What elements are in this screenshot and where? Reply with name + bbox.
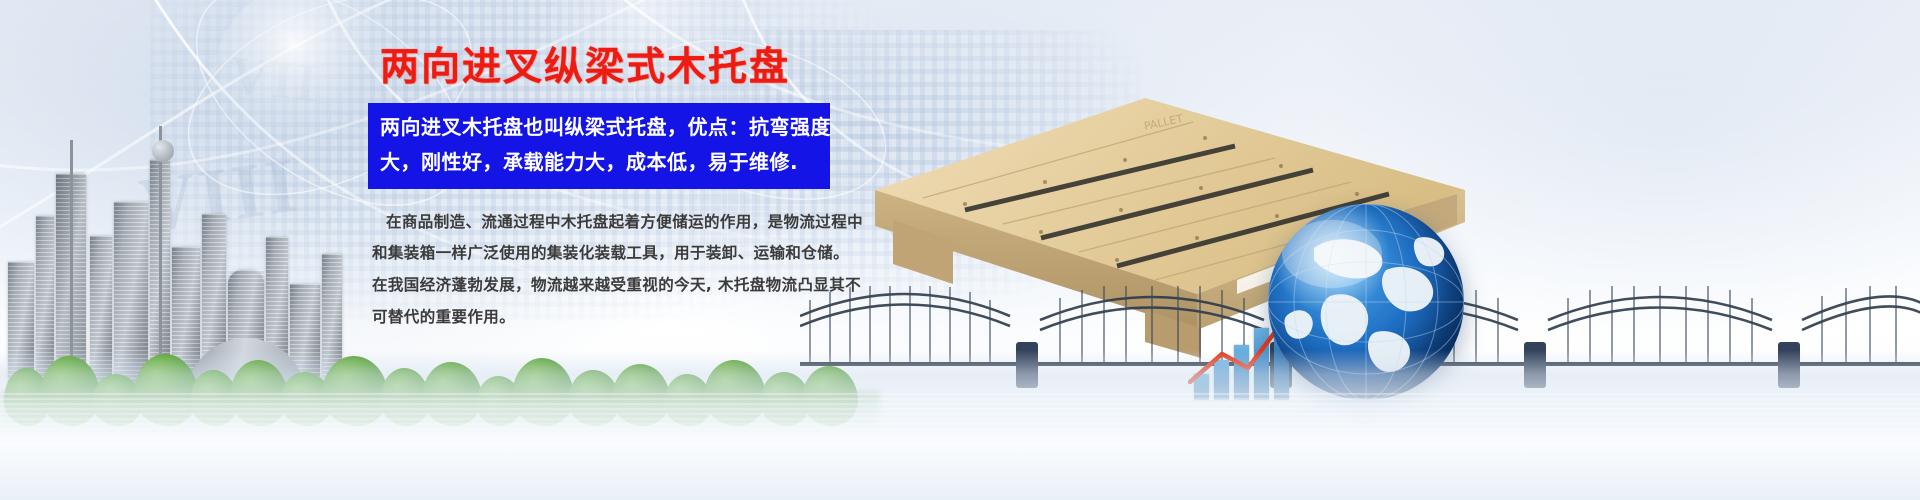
body-line-3: 在我国经济蓬勃发展，物流越来越受重视的今天, 木托盘物流凸显其不: [372, 270, 872, 302]
water-streaks: [0, 390, 1920, 464]
highlight-callout-box: 两向进叉木托盘也叫纵梁式托盘，优点：抗弯强度 大，刚性好，承载能力大，成本低，易…: [368, 103, 830, 189]
body-paragraph: 在商品制造、流通过程中木托盘起着方便储运的作用，是物流过程中 和集装箱一样广泛使…: [372, 207, 872, 334]
promo-banner: VIII VII VI: [0, 0, 1920, 500]
highlight-line-1: 两向进叉木托盘也叫纵梁式托盘，优点：抗弯强度: [380, 110, 820, 145]
body-line-2: 和集装箱一样广泛使用的集装化装载工具，用于装卸、运输和仓储。: [372, 238, 872, 270]
body-line-4: 可替代的重要作用。: [372, 302, 872, 334]
page-title: 两向进叉纵梁式木托盘: [380, 46, 888, 90]
body-line-1: 在商品制造、流通过程中木托盘起着方便储运的作用，是物流过程中: [372, 207, 872, 239]
banner-text-block: 两向进叉纵梁式木托盘 两向进叉木托盘也叫纵梁式托盘，优点：抗弯强度 大，刚性好，…: [368, 46, 888, 334]
highlight-line-2: 大，刚性好，承载能力大，成本低，易于维修.: [380, 145, 820, 180]
